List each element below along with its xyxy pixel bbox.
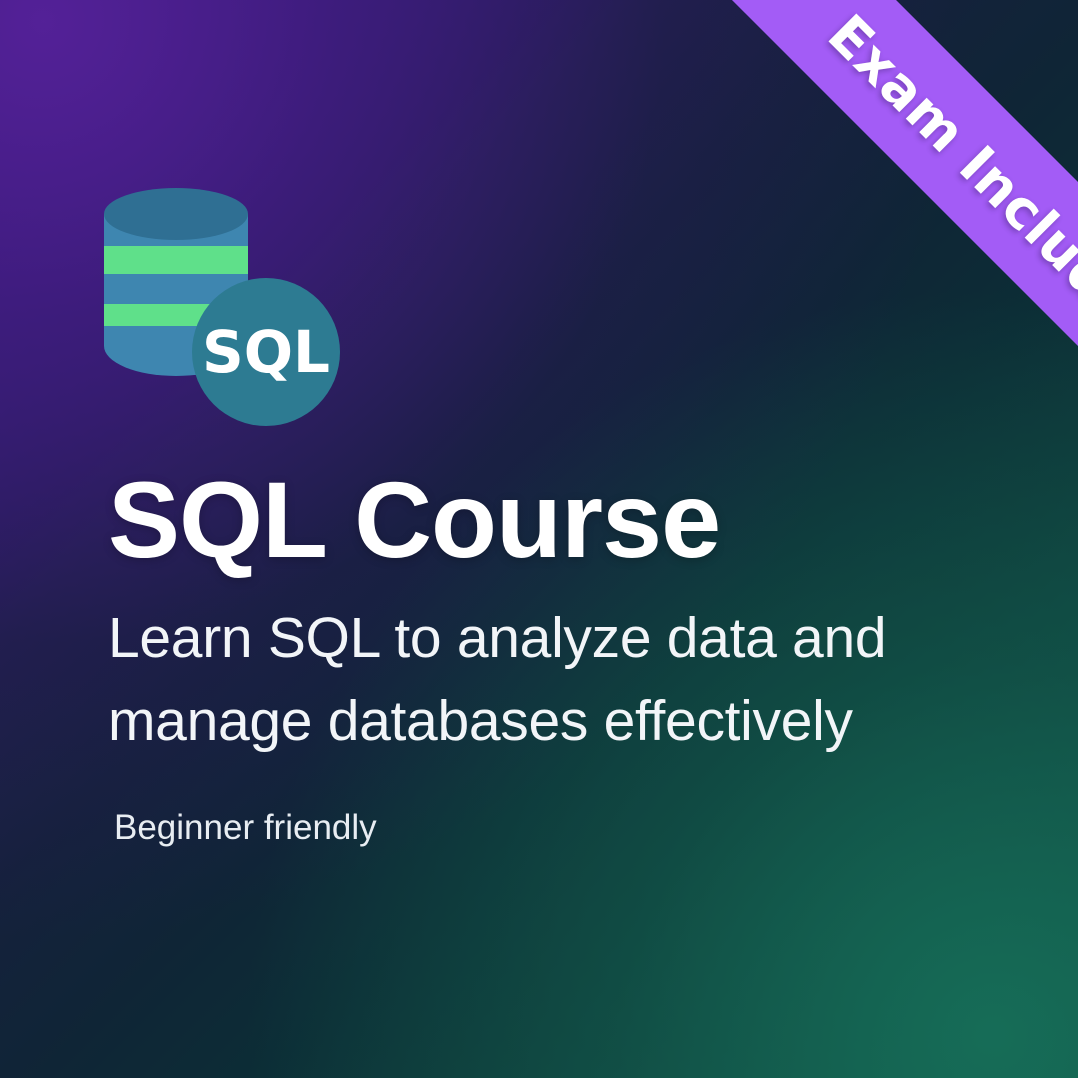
- sql-badge-icon: SQL: [192, 278, 340, 426]
- course-icon: SQL: [96, 186, 346, 426]
- course-subtitle-line-2: manage databases effectively: [108, 689, 853, 753]
- course-title: SQL Course: [108, 462, 968, 579]
- course-text-block: SQL Course Learn SQL to analyze data and…: [108, 462, 968, 851]
- sql-course-card[interactable]: Exam Included SQL SQL Course: [0, 0, 1078, 1078]
- exam-included-ribbon[interactable]: Exam Included: [646, 0, 1078, 536]
- course-tagline: Beginner friendly: [114, 805, 968, 851]
- course-subtitle-line-1: Learn SQL to analyze data and: [108, 606, 886, 670]
- sql-badge-label: SQL: [202, 323, 330, 381]
- course-subtitle: Learn SQL to analyze data and manage dat…: [108, 597, 908, 763]
- ribbon-label: Exam Included: [816, 2, 1078, 366]
